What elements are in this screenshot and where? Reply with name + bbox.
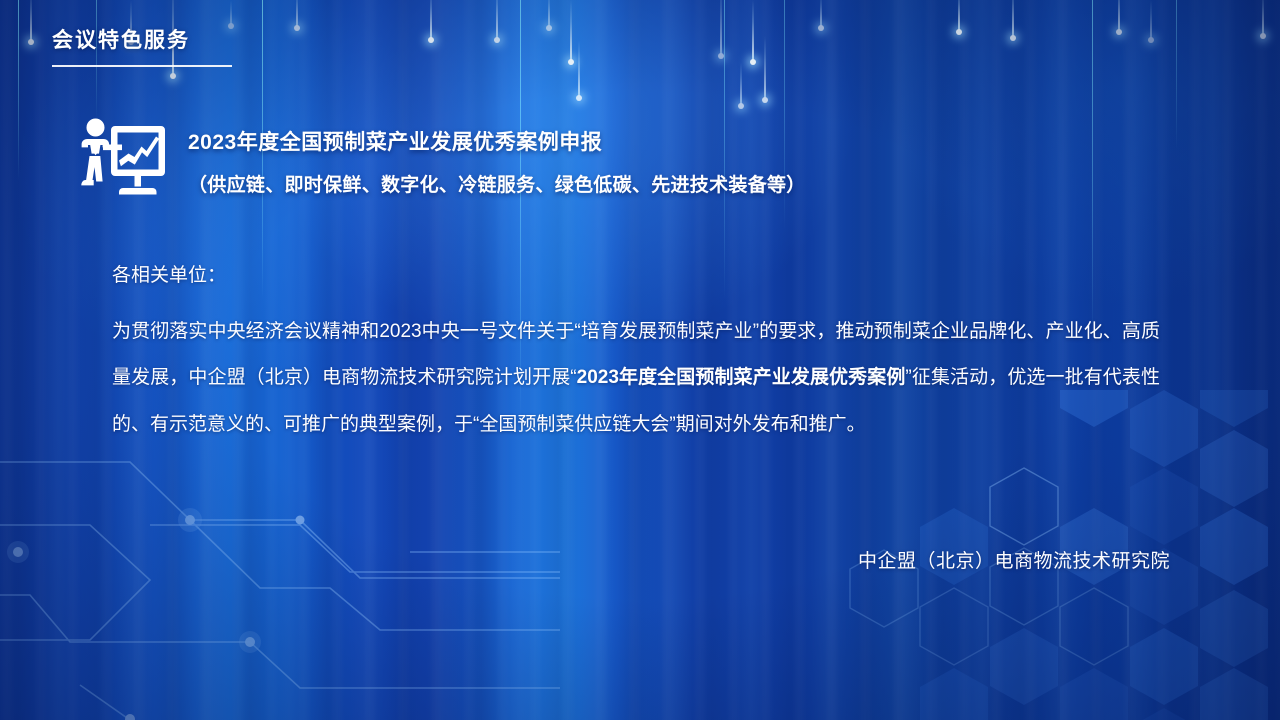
light-streak bbox=[30, 0, 32, 42]
salutation: 各相关单位： bbox=[112, 262, 1160, 291]
light-streak bbox=[548, 0, 550, 28]
light-streak bbox=[958, 0, 960, 32]
circuit-pattern bbox=[0, 420, 560, 720]
light-streak bbox=[296, 0, 298, 28]
light-streak bbox=[740, 62, 742, 106]
paragraph-emphasis: 2023年度全国预制菜产业发展优秀案例 bbox=[577, 367, 906, 388]
title-underline bbox=[52, 65, 232, 67]
slide-canvas: 会议特色服务 2023年度全国预制菜产业发展优秀案例申报 bbox=[0, 0, 1280, 720]
signature-organization: 中企盟（北京）电商物流技术研究院 bbox=[858, 546, 1170, 573]
accent-vline bbox=[1176, 0, 1177, 150]
announcement-banner: 2023年度全国预制菜产业发展优秀案例申报 （供应链、即时保鲜、数字化、冷链服务… bbox=[74, 112, 806, 208]
presenter-chart-board-icon bbox=[74, 112, 170, 208]
light-streak bbox=[230, 0, 232, 26]
slide-header: 会议特色服务 bbox=[52, 24, 232, 67]
notice-paragraph: 为贯彻落实中央经济会议精神和2023中央一号文件关于“培育发展预制菜产业”的要求… bbox=[112, 309, 1160, 449]
light-streak bbox=[570, 0, 572, 62]
light-streak bbox=[820, 0, 822, 28]
accent-vline bbox=[18, 0, 19, 180]
light-streak bbox=[430, 0, 432, 40]
page-title: 会议特色服务 bbox=[52, 24, 232, 54]
light-streak bbox=[1012, 0, 1014, 38]
light-streak bbox=[1118, 0, 1120, 32]
light-streak bbox=[1262, 0, 1264, 36]
light-streak bbox=[764, 36, 766, 100]
light-streak bbox=[720, 0, 722, 56]
light-streak bbox=[496, 0, 498, 40]
light-streak bbox=[1150, 0, 1152, 40]
light-streak bbox=[752, 0, 754, 62]
notice-body: 各相关单位： 为贯彻落实中央经济会议精神和2023中央一号文件关于“培育发展预制… bbox=[112, 262, 1160, 448]
banner-subtitle: （供应链、即时保鲜、数字化、冷链服务、绿色低碳、先进技术装备等） bbox=[188, 170, 806, 197]
banner-title: 2023年度全国预制菜产业发展优秀案例申报 bbox=[188, 126, 806, 156]
light-streak bbox=[578, 40, 580, 98]
